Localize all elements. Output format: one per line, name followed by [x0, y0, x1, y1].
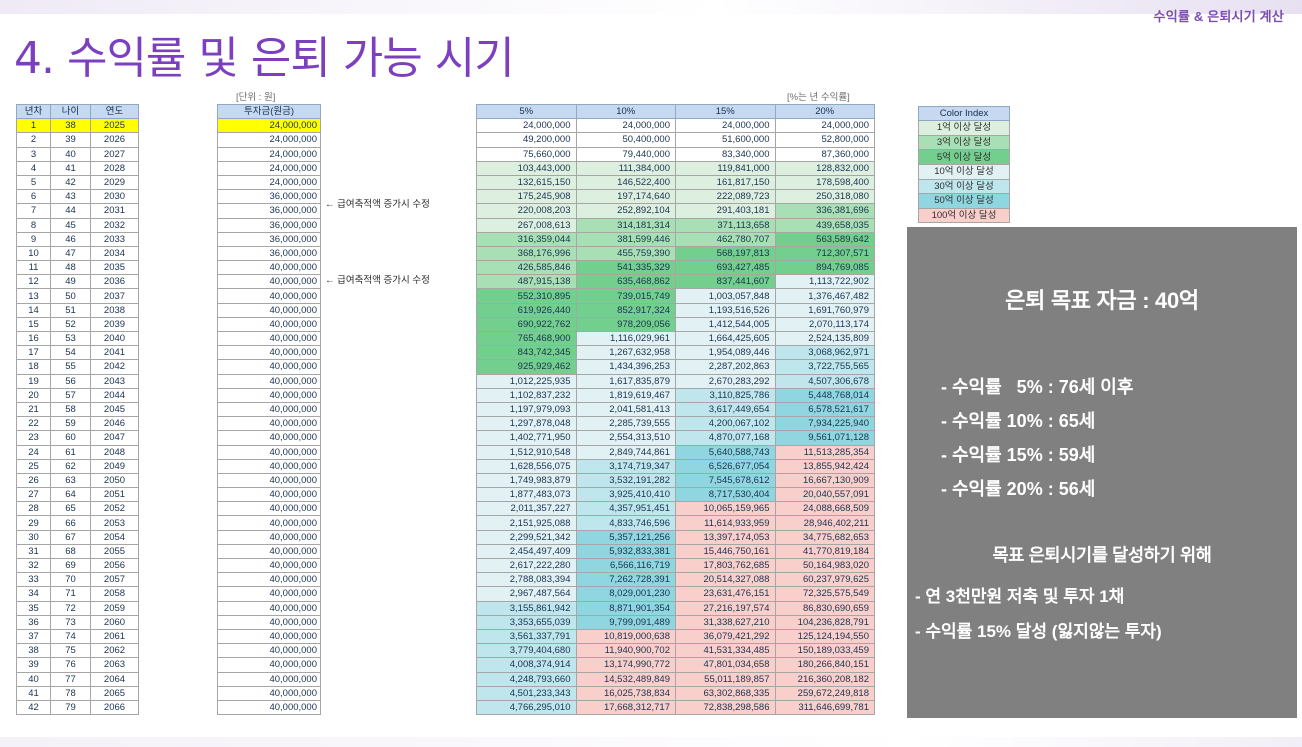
- table-row: 552,310,895739,015,7491,003,057,8481,376…: [477, 289, 875, 303]
- years-cell-year: 2048: [91, 445, 139, 459]
- years-cell-year: 2032: [91, 218, 139, 232]
- table-row: 487,915,138635,468,862837,441,6071,113,7…: [477, 275, 875, 289]
- table-row: 40,000,000: [218, 402, 321, 416]
- years-cell-year: 2036: [91, 275, 139, 289]
- table-row: 220,008,203252,892,104291,403,181336,381…: [477, 204, 875, 218]
- table-row: 40,000,000: [218, 388, 321, 402]
- invest-cell: 40,000,000: [218, 629, 321, 643]
- returns-cell-5: 4,008,374,914: [477, 658, 577, 672]
- years-cell-age: 55: [51, 360, 91, 374]
- returns-cell-15: 568,197,813: [676, 246, 776, 260]
- returns-cell-15: 119,841,000: [676, 161, 776, 175]
- table-row: 75,660,00079,440,00083,340,00087,360,000: [477, 147, 875, 161]
- returns-cell-5: 132,615,150: [477, 175, 577, 189]
- years-cell-age: 59: [51, 417, 91, 431]
- invest-cell: 40,000,000: [218, 303, 321, 317]
- table-row: 316,359,044381,599,446462,780,707563,589…: [477, 232, 875, 246]
- years-cell-age: 79: [51, 700, 91, 714]
- table-row: 1382025: [17, 119, 139, 133]
- table-row: 19562043: [17, 374, 139, 388]
- legend-row: 100억 이상 달성: [919, 208, 1010, 223]
- returns-cell-20: 259,672,249,818: [775, 686, 875, 700]
- returns-cell-10: 2,041,581,413: [576, 402, 676, 416]
- returns-cell-15: 3,617,449,654: [676, 402, 776, 416]
- invest-annotation: ← 급여축적액 증가시 수정: [325, 272, 430, 286]
- returns-cell-20: 216,360,208,182: [775, 672, 875, 686]
- years-cell-age: 71: [51, 587, 91, 601]
- returns-cell-20: 86,830,690,659: [775, 601, 875, 615]
- table-row: 36,000,000: [218, 246, 321, 260]
- years-cell-year: 2038: [91, 303, 139, 317]
- years-cell-year: 2043: [91, 374, 139, 388]
- years-cell-age: 63: [51, 473, 91, 487]
- returns-cell-15: 24,000,000: [676, 119, 776, 133]
- years-cell-index: 13: [17, 289, 51, 303]
- invest-cell: 36,000,000: [218, 190, 321, 204]
- legend-header-row: Color Index: [919, 107, 1010, 121]
- invest-cell: 40,000,000: [218, 459, 321, 473]
- returns-cell-10: 455,759,390: [576, 246, 676, 260]
- years-cell-index: 3: [17, 147, 51, 161]
- returns-cell-15: 371,113,658: [676, 218, 776, 232]
- returns-cell-10: 635,468,862: [576, 275, 676, 289]
- returns-cell-15: 41,531,334,485: [676, 644, 776, 658]
- returns-cell-15: 23,631,476,151: [676, 587, 776, 601]
- returns-cell-15: 10,065,159,965: [676, 502, 776, 516]
- legend-row: 50억 이상 달성: [919, 194, 1010, 209]
- legend-row: 10억 이상 달성: [919, 164, 1010, 179]
- invest-cell: 40,000,000: [218, 573, 321, 587]
- invest-cell: 40,000,000: [218, 700, 321, 714]
- years-cell-age: 65: [51, 502, 91, 516]
- table-row: 1,102,837,2321,819,619,4673,110,825,7865…: [477, 388, 875, 402]
- returns-cell-10: 8,871,901,354: [576, 601, 676, 615]
- returns-cell-5: 426,585,846: [477, 261, 577, 275]
- returns-cell-20: 11,513,285,354: [775, 445, 875, 459]
- invest-cell: 36,000,000: [218, 218, 321, 232]
- years-cell-age: 56: [51, 374, 91, 388]
- returns-cell-15: 161,817,150: [676, 175, 776, 189]
- years-cell-year: 2029: [91, 175, 139, 189]
- years-cell-age: 50: [51, 289, 91, 303]
- years-cell-age: 73: [51, 615, 91, 629]
- table-row: 17542041: [17, 346, 139, 360]
- returns-cell-10: 852,917,324: [576, 303, 676, 317]
- years-cell-year: 2049: [91, 459, 139, 473]
- returns-cell-20: 563,589,642: [775, 232, 875, 246]
- years-cell-index: 20: [17, 388, 51, 402]
- returns-note-caption: [%는 년 수익률]: [787, 89, 850, 103]
- returns-cell-20: 3,068,962,971: [775, 346, 875, 360]
- table-row: 40,000,000: [218, 473, 321, 487]
- legend-item: 3억 이상 달성: [919, 135, 1010, 150]
- returns-cell-10: 1,267,632,958: [576, 346, 676, 360]
- returns-cell-5: 175,245,908: [477, 190, 577, 204]
- years-cell-age: 53: [51, 332, 91, 346]
- table-row: 32692056: [17, 559, 139, 573]
- table-row: 39762063: [17, 658, 139, 672]
- returns-cell-15: 291,403,181: [676, 204, 776, 218]
- returns-cell-5: 2,011,357,227: [477, 502, 577, 516]
- table-row: 426,585,846541,335,329693,427,485894,769…: [477, 261, 875, 275]
- returns-cell-5: 3,353,655,039: [477, 615, 577, 629]
- legend-row: 1억 이상 달성: [919, 121, 1010, 136]
- table-row: 40,000,000: [218, 502, 321, 516]
- invest-col-header: 투자금(원금): [218, 105, 321, 119]
- returns-cell-20: 2,070,113,174: [775, 317, 875, 331]
- years-cell-index: 6: [17, 190, 51, 204]
- invest-cell: 40,000,000: [218, 346, 321, 360]
- years-cell-index: 42: [17, 700, 51, 714]
- returns-col-header-5: 5%: [477, 105, 577, 119]
- returns-cell-20: 128,832,000: [775, 161, 875, 175]
- table-row: 4,248,793,66014,532,489,84955,011,189,85…: [477, 672, 875, 686]
- years-cell-index: 38: [17, 644, 51, 658]
- returns-cell-5: 1,102,837,232: [477, 388, 577, 402]
- invest-cell: 40,000,000: [218, 417, 321, 431]
- returns-cell-5: 3,779,404,680: [477, 644, 577, 658]
- years-cell-age: 51: [51, 303, 91, 317]
- bottom-decor-band: [0, 737, 1302, 747]
- legend-item: 5억 이상 달성: [919, 150, 1010, 165]
- years-cell-age: 62: [51, 459, 91, 473]
- panel-requirement-item: - 연 3천만원 저축 및 투자 1채: [915, 579, 1162, 614]
- years-cell-age: 42: [51, 175, 91, 189]
- years-cell-index: 7: [17, 204, 51, 218]
- years-cell-index: 11: [17, 261, 51, 275]
- years-table-header-row: 년차 나이 연도: [17, 105, 139, 119]
- invest-cell: 40,000,000: [218, 261, 321, 275]
- table-row: 40,000,000: [218, 303, 321, 317]
- table-row: 40,000,000: [218, 516, 321, 530]
- summary-panel: 은퇴 목표 자금 : 40억 - 수익률 5% : 76세 이후- 수익률 10…: [907, 227, 1297, 718]
- years-cell-year: 2053: [91, 516, 139, 530]
- years-cell-year: 2050: [91, 473, 139, 487]
- returns-cell-15: 2,670,283,292: [676, 374, 776, 388]
- invest-cell: 40,000,000: [218, 516, 321, 530]
- table-row: 42792066: [17, 700, 139, 714]
- table-row: 925,929,4621,434,396,2532,287,202,8633,7…: [477, 360, 875, 374]
- years-cell-index: 9: [17, 232, 51, 246]
- panel-goal-item: - 수익률 15% : 59세: [941, 438, 1133, 472]
- returns-cell-15: 693,427,485: [676, 261, 776, 275]
- returns-cell-15: 31,338,627,210: [676, 615, 776, 629]
- returns-cell-20: 7,934,225,940: [775, 417, 875, 431]
- years-cell-index: 2: [17, 133, 51, 147]
- years-table-body: 1382025239202634020274412028542202964320…: [17, 119, 139, 715]
- years-cell-year: 2058: [91, 587, 139, 601]
- table-row: 5422029: [17, 175, 139, 189]
- years-cell-age: 44: [51, 204, 91, 218]
- returns-cell-10: 4,833,746,596: [576, 516, 676, 530]
- years-cell-age: 40: [51, 147, 91, 161]
- years-cell-index: 17: [17, 346, 51, 360]
- years-col-header-age: 나이: [51, 105, 91, 119]
- returns-cell-5: 2,967,487,564: [477, 587, 577, 601]
- returns-cell-15: 47,801,034,658: [676, 658, 776, 672]
- returns-cell-20: 6,578,521,617: [775, 402, 875, 416]
- returns-cell-5: 1,877,483,073: [477, 488, 577, 502]
- returns-cell-5: 1,197,979,093: [477, 402, 577, 416]
- returns-cell-10: 5,357,121,256: [576, 530, 676, 544]
- table-row: 24,000,000: [218, 175, 321, 189]
- years-cell-year: 2033: [91, 232, 139, 246]
- years-cell-index: 28: [17, 502, 51, 516]
- returns-cell-20: 1,113,722,902: [775, 275, 875, 289]
- returns-cell-5: 765,468,900: [477, 332, 577, 346]
- returns-cell-20: 50,164,983,020: [775, 559, 875, 573]
- table-row: 267,008,613314,181,314371,113,658439,658…: [477, 218, 875, 232]
- table-row: 2,151,925,0884,833,746,59611,614,933,959…: [477, 516, 875, 530]
- returns-cell-20: 28,946,402,211: [775, 516, 875, 530]
- table-row: 16532040: [17, 332, 139, 346]
- years-cell-year: 2034: [91, 246, 139, 260]
- table-row: 40,000,000: [218, 686, 321, 700]
- returns-cell-15: 4,870,077,168: [676, 431, 776, 445]
- returns-table: 5% 10% 15% 20% 24,000,00024,000,00024,00…: [476, 104, 875, 715]
- legend-item: 30억 이상 달성: [919, 179, 1010, 194]
- returns-cell-10: 9,799,091,489: [576, 615, 676, 629]
- panel-goal-item: - 수익률 20% : 56세: [941, 472, 1133, 506]
- returns-cell-5: 1,012,225,935: [477, 374, 577, 388]
- years-cell-index: 37: [17, 629, 51, 643]
- returns-col-header-20: 20%: [775, 105, 875, 119]
- returns-cell-15: 1,003,057,848: [676, 289, 776, 303]
- returns-cell-20: 41,770,819,184: [775, 544, 875, 558]
- returns-cell-20: 894,769,085: [775, 261, 875, 275]
- table-row: 132,615,150146,522,400161,817,150178,598…: [477, 175, 875, 189]
- invest-cell: 40,000,000: [218, 289, 321, 303]
- years-cell-year: 2055: [91, 544, 139, 558]
- returns-cell-10: 1,116,029,961: [576, 332, 676, 346]
- table-row: 33702057: [17, 573, 139, 587]
- invest-cell: 40,000,000: [218, 615, 321, 629]
- returns-cell-15: 8,717,530,404: [676, 488, 776, 502]
- panel-requirement-list: - 연 3천만원 저축 및 투자 1채- 수익률 15% 달성 (잃지않는 투자…: [915, 579, 1162, 649]
- panel-goal-item: - 수익률 10% : 65세: [941, 404, 1133, 438]
- returns-cell-20: 13,855,942,424: [775, 459, 875, 473]
- table-row: 40,000,000: [218, 672, 321, 686]
- returns-cell-5: 75,660,000: [477, 147, 577, 161]
- years-cell-year: 2028: [91, 161, 139, 175]
- table-row: 40,000,000: [218, 530, 321, 544]
- years-cell-year: 2040: [91, 332, 139, 346]
- years-cell-index: 21: [17, 402, 51, 416]
- table-row: 49,200,00050,400,00051,600,00052,800,000: [477, 133, 875, 147]
- invest-cell: 40,000,000: [218, 672, 321, 686]
- table-row: 40,000,000: [218, 629, 321, 643]
- table-row: 22592046: [17, 417, 139, 431]
- table-row: 1,512,910,5482,849,744,8615,640,588,7431…: [477, 445, 875, 459]
- table-row: 3,353,655,0399,799,091,48931,338,627,210…: [477, 615, 875, 629]
- returns-table-body: 24,000,00024,000,00024,000,00024,000,000…: [477, 119, 875, 715]
- years-cell-year: 2047: [91, 431, 139, 445]
- table-row: 27642051: [17, 488, 139, 502]
- returns-cell-10: 3,532,191,282: [576, 473, 676, 487]
- returns-cell-10: 978,209,056: [576, 317, 676, 331]
- invest-cell: 40,000,000: [218, 360, 321, 374]
- years-cell-index: 16: [17, 332, 51, 346]
- returns-cell-20: 87,360,000: [775, 147, 875, 161]
- returns-cell-5: 1,628,556,075: [477, 459, 577, 473]
- returns-cell-20: 180,266,840,151: [775, 658, 875, 672]
- table-row: 29662053: [17, 516, 139, 530]
- returns-cell-20: 60,237,979,625: [775, 573, 875, 587]
- returns-cell-5: 925,929,462: [477, 360, 577, 374]
- years-cell-year: 2054: [91, 530, 139, 544]
- returns-cell-20: 1,376,467,482: [775, 289, 875, 303]
- years-cell-age: 57: [51, 388, 91, 402]
- years-cell-age: 64: [51, 488, 91, 502]
- panel-subtitle: 목표 은퇴시기를 달성하기 위해: [907, 542, 1297, 567]
- years-cell-age: 39: [51, 133, 91, 147]
- returns-cell-5: 4,766,295,010: [477, 700, 577, 714]
- years-cell-year: 2031: [91, 204, 139, 218]
- top-decor-band: [0, 0, 1302, 14]
- returns-cell-10: 1,434,396,253: [576, 360, 676, 374]
- page-title: 4. 수익률 및 은퇴 가능 시기: [14, 22, 514, 86]
- returns-cell-15: 15,446,750,161: [676, 544, 776, 558]
- years-cell-index: 8: [17, 218, 51, 232]
- years-cell-age: 77: [51, 672, 91, 686]
- table-row: 25622049: [17, 459, 139, 473]
- returns-cell-20: 5,448,768,014: [775, 388, 875, 402]
- invest-cell: 40,000,000: [218, 601, 321, 615]
- table-row: 7442031: [17, 204, 139, 218]
- returns-cell-15: 222,089,723: [676, 190, 776, 204]
- years-col-header-index: 년차: [17, 105, 51, 119]
- invest-cell: 40,000,000: [218, 431, 321, 445]
- table-row: 3402027: [17, 147, 139, 161]
- returns-table-header-row: 5% 10% 15% 20%: [477, 105, 875, 119]
- returns-cell-5: 4,501,233,343: [477, 686, 577, 700]
- returns-cell-10: 111,384,000: [576, 161, 676, 175]
- table-row: 28652052: [17, 502, 139, 516]
- table-row: 40,000,000: [218, 332, 321, 346]
- returns-cell-5: 220,008,203: [477, 204, 577, 218]
- returns-cell-20: 4,507,306,678: [775, 374, 875, 388]
- table-row: 40,000,000: [218, 317, 321, 331]
- invest-cell: 40,000,000: [218, 587, 321, 601]
- returns-cell-15: 3,110,825,786: [676, 388, 776, 402]
- table-row: 24,000,000: [218, 161, 321, 175]
- invest-cell: 36,000,000: [218, 246, 321, 260]
- years-cell-age: 74: [51, 629, 91, 643]
- returns-cell-10: 24,000,000: [576, 119, 676, 133]
- returns-cell-15: 2,287,202,863: [676, 360, 776, 374]
- table-row: 11482035: [17, 261, 139, 275]
- returns-cell-15: 27,216,197,574: [676, 601, 776, 615]
- returns-cell-5: 2,617,222,280: [477, 559, 577, 573]
- table-row: 40,000,000: [218, 346, 321, 360]
- returns-cell-5: 368,176,996: [477, 246, 577, 260]
- invest-cell: 40,000,000: [218, 388, 321, 402]
- invest-unit-caption: [단위 : 원]: [236, 89, 275, 103]
- returns-cell-20: 52,800,000: [775, 133, 875, 147]
- table-row: 690,922,762978,209,0561,412,544,0052,070…: [477, 317, 875, 331]
- years-cell-age: 72: [51, 601, 91, 615]
- table-row: 37742061: [17, 629, 139, 643]
- years-cell-index: 33: [17, 573, 51, 587]
- invest-cell: 36,000,000: [218, 232, 321, 246]
- returns-cell-15: 837,441,607: [676, 275, 776, 289]
- years-cell-year: 2051: [91, 488, 139, 502]
- returns-cell-5: 103,443,000: [477, 161, 577, 175]
- table-row: 40,000,000: [218, 374, 321, 388]
- returns-cell-5: 2,788,083,394: [477, 573, 577, 587]
- table-row: 40,000,000: [218, 544, 321, 558]
- years-cell-age: 61: [51, 445, 91, 459]
- returns-cell-10: 13,174,990,772: [576, 658, 676, 672]
- years-cell-year: 2027: [91, 147, 139, 161]
- table-row: 40,000,000: [218, 459, 321, 473]
- years-cell-index: 1: [17, 119, 51, 133]
- returns-cell-15: 1,664,425,605: [676, 332, 776, 346]
- table-row: 9462033: [17, 232, 139, 246]
- returns-cell-20: 150,189,033,459: [775, 644, 875, 658]
- years-cell-year: 2061: [91, 629, 139, 643]
- table-row: 40,000,000: [218, 615, 321, 629]
- panel-title: 은퇴 목표 자금 : 40억: [907, 283, 1297, 315]
- table-row: 6432030: [17, 190, 139, 204]
- returns-cell-10: 2,554,313,510: [576, 431, 676, 445]
- table-row: 24,000,000: [218, 133, 321, 147]
- returns-cell-10: 50,400,000: [576, 133, 676, 147]
- years-cell-index: 39: [17, 658, 51, 672]
- returns-cell-20: 24,088,668,509: [775, 502, 875, 516]
- years-cell-age: 46: [51, 232, 91, 246]
- years-cell-year: 2025: [91, 119, 139, 133]
- years-cell-index: 12: [17, 275, 51, 289]
- returns-cell-10: 10,819,000,638: [576, 629, 676, 643]
- invest-cell: 24,000,000: [218, 119, 321, 133]
- returns-cell-5: 1,402,771,950: [477, 431, 577, 445]
- invest-cell: 40,000,000: [218, 530, 321, 544]
- table-row: 21582045: [17, 402, 139, 416]
- table-row: 843,742,3451,267,632,9581,954,089,4463,0…: [477, 346, 875, 360]
- years-cell-index: 41: [17, 686, 51, 700]
- table-row: 40,000,000: [218, 431, 321, 445]
- years-cell-age: 58: [51, 402, 91, 416]
- returns-cell-10: 3,925,410,410: [576, 488, 676, 502]
- invest-cell: 40,000,000: [218, 644, 321, 658]
- table-row: 2,299,521,3425,357,121,25613,397,174,053…: [477, 530, 875, 544]
- returns-cell-15: 20,514,327,088: [676, 573, 776, 587]
- table-row: 40,000,000: [218, 587, 321, 601]
- invest-cell: 24,000,000: [218, 175, 321, 189]
- returns-cell-10: 1,819,619,467: [576, 388, 676, 402]
- returns-cell-10: 11,940,900,702: [576, 644, 676, 658]
- table-row: 35722059: [17, 601, 139, 615]
- years-cell-age: 70: [51, 573, 91, 587]
- returns-cell-20: 16,667,130,909: [775, 473, 875, 487]
- table-row: 24612048: [17, 445, 139, 459]
- years-cell-index: 34: [17, 587, 51, 601]
- table-row: 2,011,357,2274,357,951,45110,065,159,965…: [477, 502, 875, 516]
- returns-cell-5: 2,299,521,342: [477, 530, 577, 544]
- years-cell-year: 2035: [91, 261, 139, 275]
- years-cell-age: 78: [51, 686, 91, 700]
- table-row: 31682055: [17, 544, 139, 558]
- years-cell-age: 48: [51, 261, 91, 275]
- returns-cell-10: 7,262,728,391: [576, 573, 676, 587]
- table-row: 34712058: [17, 587, 139, 601]
- table-row: 36,000,000: [218, 218, 321, 232]
- returns-cell-5: 619,926,440: [477, 303, 577, 317]
- years-cell-index: 23: [17, 431, 51, 445]
- table-row: 1,297,878,0482,285,739,5554,200,067,1027…: [477, 417, 875, 431]
- table-row: 14512038: [17, 303, 139, 317]
